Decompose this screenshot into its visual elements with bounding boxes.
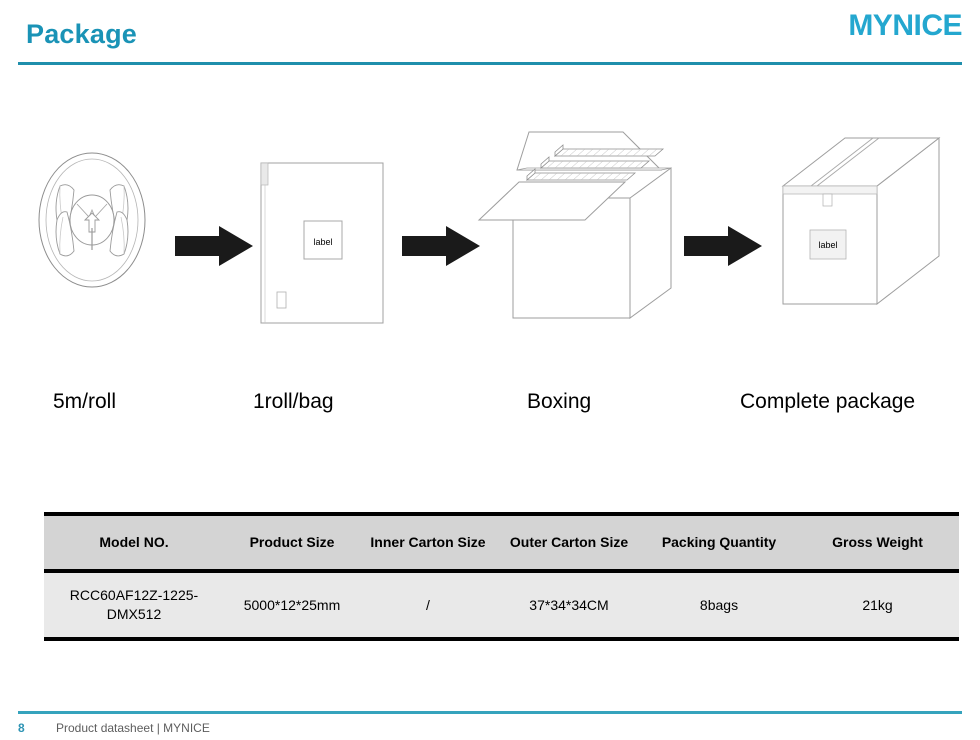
spec-table: Model NO. Product Size Inner Carton Size… (44, 512, 959, 641)
footer-page-number: 8 (18, 721, 25, 736)
cell-product-size: 5000*12*25mm (224, 571, 360, 639)
column-header-packing-quantity: Packing Quantity (642, 514, 796, 571)
stage-caption-reel: 5m/roll (53, 390, 116, 414)
footer-text: Product datasheet | MYNICE (56, 721, 210, 736)
cell-outer-carton-size: 37*34*34CM (496, 571, 642, 639)
page-title: Package (26, 18, 137, 50)
bag-label-text: label (313, 237, 332, 247)
footer-divider (18, 711, 962, 714)
table-row: RCC60AF12Z-1225-DMX512 5000*12*25mm / 37… (44, 571, 959, 639)
stage-caption-boxing: Boxing (527, 390, 591, 414)
slide-header: Package MYNICE (0, 0, 980, 70)
flow-stage-complete: label Complete package (765, 120, 955, 420)
slide-footer: 8 Product datasheet | MYNICE (0, 700, 980, 740)
cell-model: RCC60AF12Z-1225-DMX512 (44, 571, 224, 639)
cell-inner-carton-size: / (360, 571, 496, 639)
spec-table-header: Model NO. Product Size Inner Carton Size… (44, 514, 959, 571)
stage-caption-bag: 1roll/bag (253, 390, 334, 414)
column-header-gross-weight: Gross Weight (796, 514, 959, 571)
cell-packing-quantity: 8bags (642, 571, 796, 639)
closed-carton-illustration: label (765, 120, 955, 330)
flow-arrow-3 (684, 224, 764, 268)
cell-gross-weight: 21kg (796, 571, 959, 639)
flow-arrow-1 (175, 224, 255, 268)
flow-arrow-2 (402, 224, 482, 268)
column-header-model: Model NO. (44, 514, 224, 571)
column-header-inner-carton-size: Inner Carton Size (360, 514, 496, 571)
column-header-outer-carton-size: Outer Carton Size (496, 514, 642, 571)
flow-stage-boxing: Boxing (475, 120, 695, 420)
flow-stage-bag: label 1roll/bag (258, 120, 383, 420)
reel-illustration (30, 120, 170, 320)
header-divider (18, 62, 962, 65)
column-header-product-size: Product Size (224, 514, 360, 571)
bag-illustration: label (258, 120, 388, 330)
carton-label-text: label (818, 240, 837, 250)
flow-stage-reel: 5m/roll (30, 120, 170, 420)
package-flow-diagram: 5m/roll label 1roll/bag (0, 120, 980, 420)
stage-caption-complete: Complete package (740, 390, 915, 414)
spec-table-container: Model NO. Product Size Inner Carton Size… (44, 512, 935, 641)
spec-table-body: RCC60AF12Z-1225-DMX512 5000*12*25mm / 37… (44, 571, 959, 639)
brand-logo: MYNICE (848, 9, 962, 43)
open-carton-illustration (475, 120, 695, 330)
table-header-row: Model NO. Product Size Inner Carton Size… (44, 514, 959, 571)
